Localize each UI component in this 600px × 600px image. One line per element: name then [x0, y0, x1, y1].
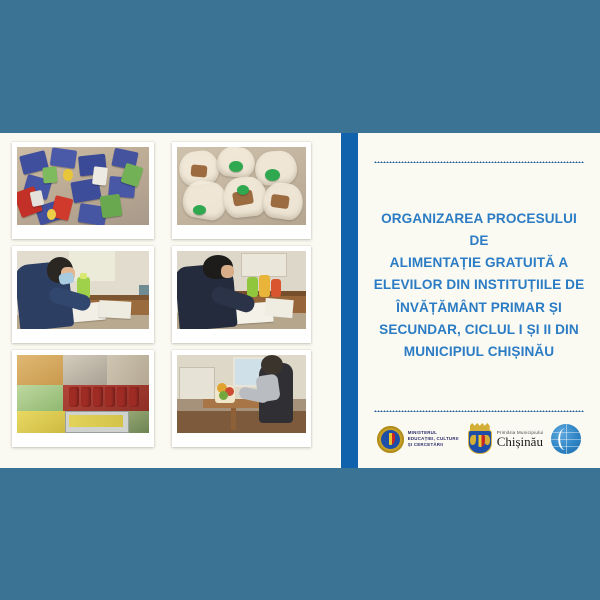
photo-row-2: [12, 246, 335, 343]
content-card: ORGANIZAREA PROCESULUI DE ALIMENTAȚIE GR…: [0, 133, 600, 468]
vertical-divider-bar: [341, 133, 358, 468]
photo-image-classroom-table: [177, 355, 306, 433]
photo-card-signing-blue-jacket[interactable]: [12, 246, 154, 343]
photo-row-1: [12, 142, 335, 239]
photo-grid: [0, 133, 341, 468]
photo-card-food-packages[interactable]: [12, 142, 154, 239]
slide-canvas: ORGANIZAREA PROCESULUI DE ALIMENTAȚIE GR…: [0, 0, 600, 600]
moldova-state-emblem-icon: [377, 426, 404, 453]
page-title: ORGANIZAREA PROCESULUI DE ALIMENTAȚIE GR…: [372, 163, 586, 410]
photo-image-signing-blue-jacket: [17, 251, 149, 329]
photo-image-food-collage: [17, 355, 149, 433]
ministry-logo: MINISTERUL EDUCAȚIEI, CULTURII ȘI CERCET…: [377, 426, 459, 453]
photo-card-food-collage[interactable]: [12, 350, 154, 447]
photo-card-food-bags[interactable]: [172, 142, 311, 239]
chisinau-coat-of-arms-icon: [467, 423, 493, 455]
logo-strip: MINISTERUL EDUCAȚIEI, CULTURII ȘI CERCET…: [372, 412, 586, 468]
city-hall-logo: Primăria Municipiului Chișinău: [467, 423, 544, 455]
ministry-logo-text: MINISTERUL EDUCAȚIEI, CULTURII ȘI CERCET…: [408, 430, 459, 448]
photo-card-classroom-table[interactable]: [172, 350, 311, 447]
photo-image-signing-dark-uniform: [177, 251, 306, 329]
photo-image-food-bags: [177, 147, 306, 225]
photo-image-food-packages: [17, 147, 149, 225]
city-hall-logo-text: Primăria Municipiului Chișinău: [497, 430, 544, 448]
globe-organization-logo-icon: [551, 424, 581, 454]
title-panel: ORGANIZAREA PROCESULUI DE ALIMENTAȚIE GR…: [358, 133, 600, 468]
city-hall-title: Chișinău: [497, 435, 544, 448]
photo-card-signing-dark-uniform[interactable]: [172, 246, 311, 343]
photo-row-3: [12, 350, 335, 447]
